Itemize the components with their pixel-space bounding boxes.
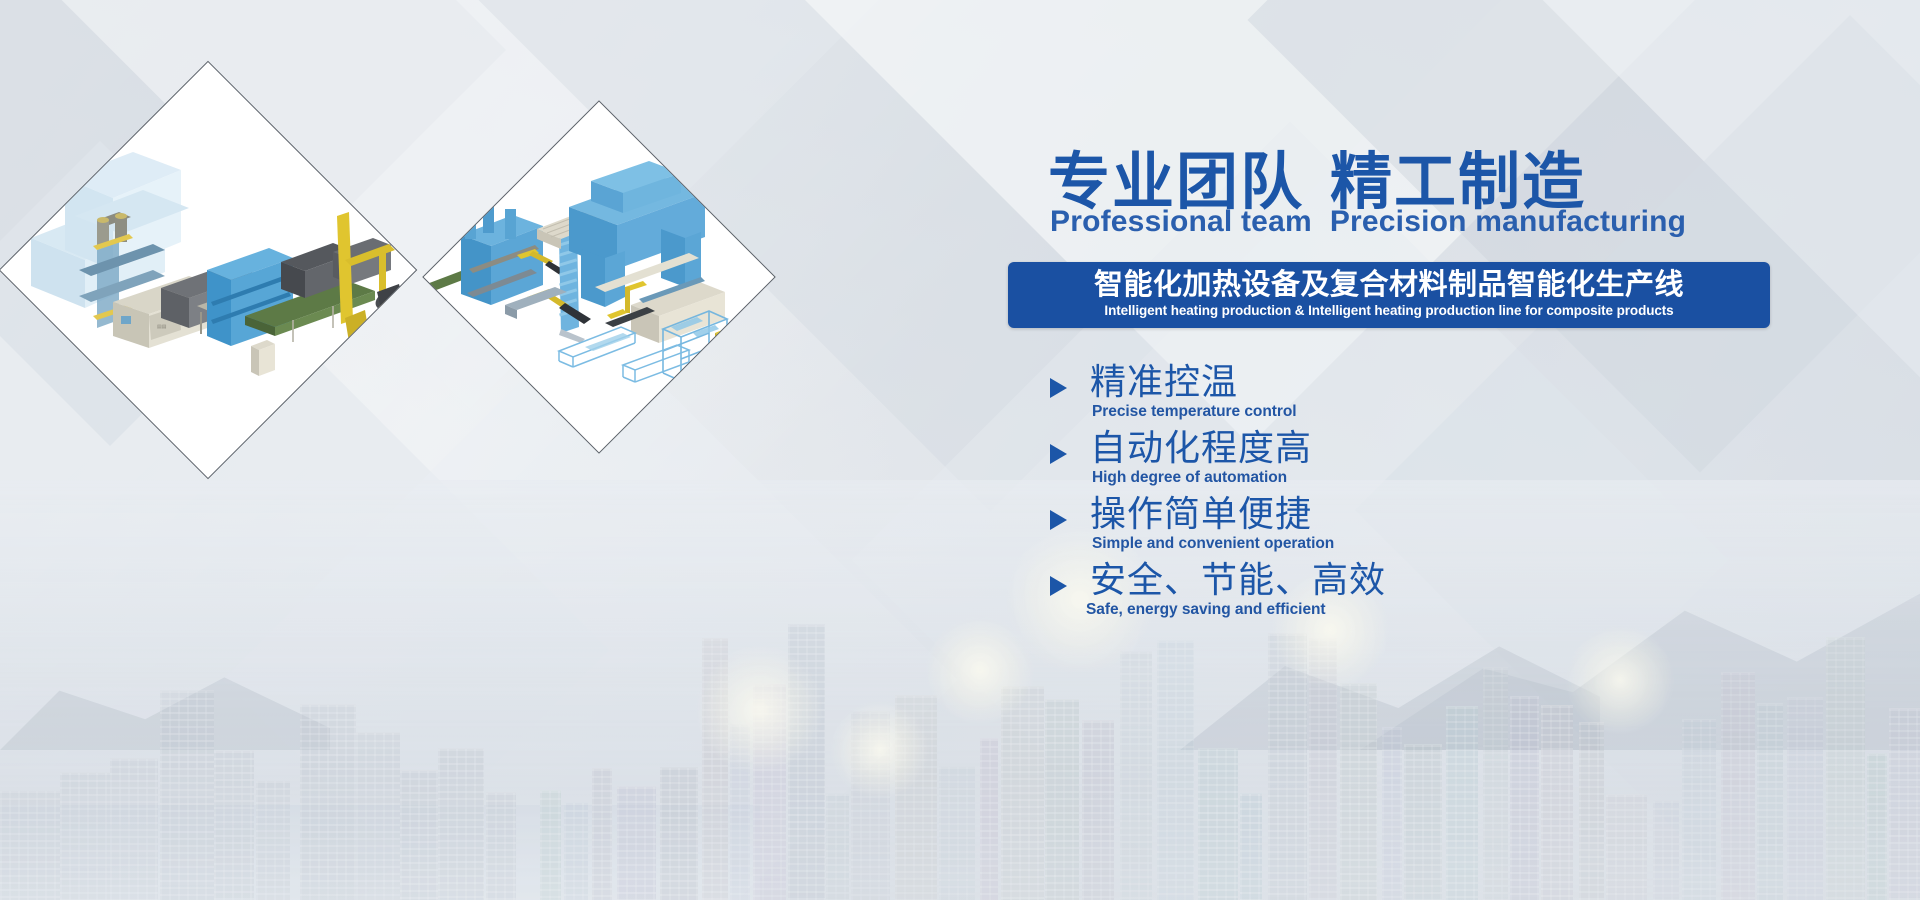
feature-item: 精准控温Precise temperature control <box>1028 360 1768 426</box>
product-banner-box: 智能化加热设备及复合材料制品智能化生产线 Intelligent heating… <box>1008 262 1770 328</box>
bullet-triangle-icon <box>1050 510 1067 530</box>
product-name-en: Intelligent heating production & Intelli… <box>1104 303 1673 319</box>
product-image-right-inner <box>475 153 723 401</box>
bullet-triangle-icon <box>1050 576 1067 596</box>
headline-en-part2: Precision manufacturing <box>1330 205 1686 238</box>
text-content-column: 专业团队精工制造 Professional teamPrecision manu… <box>1008 0 1798 900</box>
feature-item: 自动化程度高High degree of automation <box>1028 426 1768 492</box>
feature-label-cn: 安全、节能、高效 <box>1090 558 1386 602</box>
feature-label-en: Precise temperature control <box>1092 403 1297 421</box>
bullet-triangle-icon <box>1050 378 1067 398</box>
feature-label-cn: 操作简单便捷 <box>1090 492 1312 536</box>
feature-item: 操作简单便捷Simple and convenient operation <box>1028 492 1768 558</box>
feature-label-en: High degree of automation <box>1092 469 1287 487</box>
feature-label-cn: 自动化程度高 <box>1090 426 1312 470</box>
feature-label-cn: 精准控温 <box>1090 360 1238 404</box>
city-light-glow <box>695 645 825 775</box>
feature-label-en: Simple and convenient operation <box>1092 535 1334 553</box>
product-image-left-inner: ▤▤ <box>61 123 355 417</box>
promotional-banner: ▤▤ <box>0 0 1920 900</box>
product-name-cn: 智能化加热设备及复合材料制品智能化生产线 <box>1094 269 1684 301</box>
feature-item: 安全、节能、高效Safe, energy saving and efficien… <box>1028 558 1768 624</box>
page-subtitle: Professional teamPrecision manufacturing <box>1050 205 1686 239</box>
svg-text:▤▤: ▤▤ <box>157 324 167 330</box>
feature-list: 精准控温Precise temperature control自动化程度高Hig… <box>1028 360 1768 624</box>
city-light-glow <box>830 700 930 800</box>
headline-en-part1: Professional team <box>1050 205 1312 238</box>
bullet-triangle-icon <box>1050 444 1067 464</box>
feature-label-en: Safe, energy saving and efficient <box>1086 601 1326 619</box>
